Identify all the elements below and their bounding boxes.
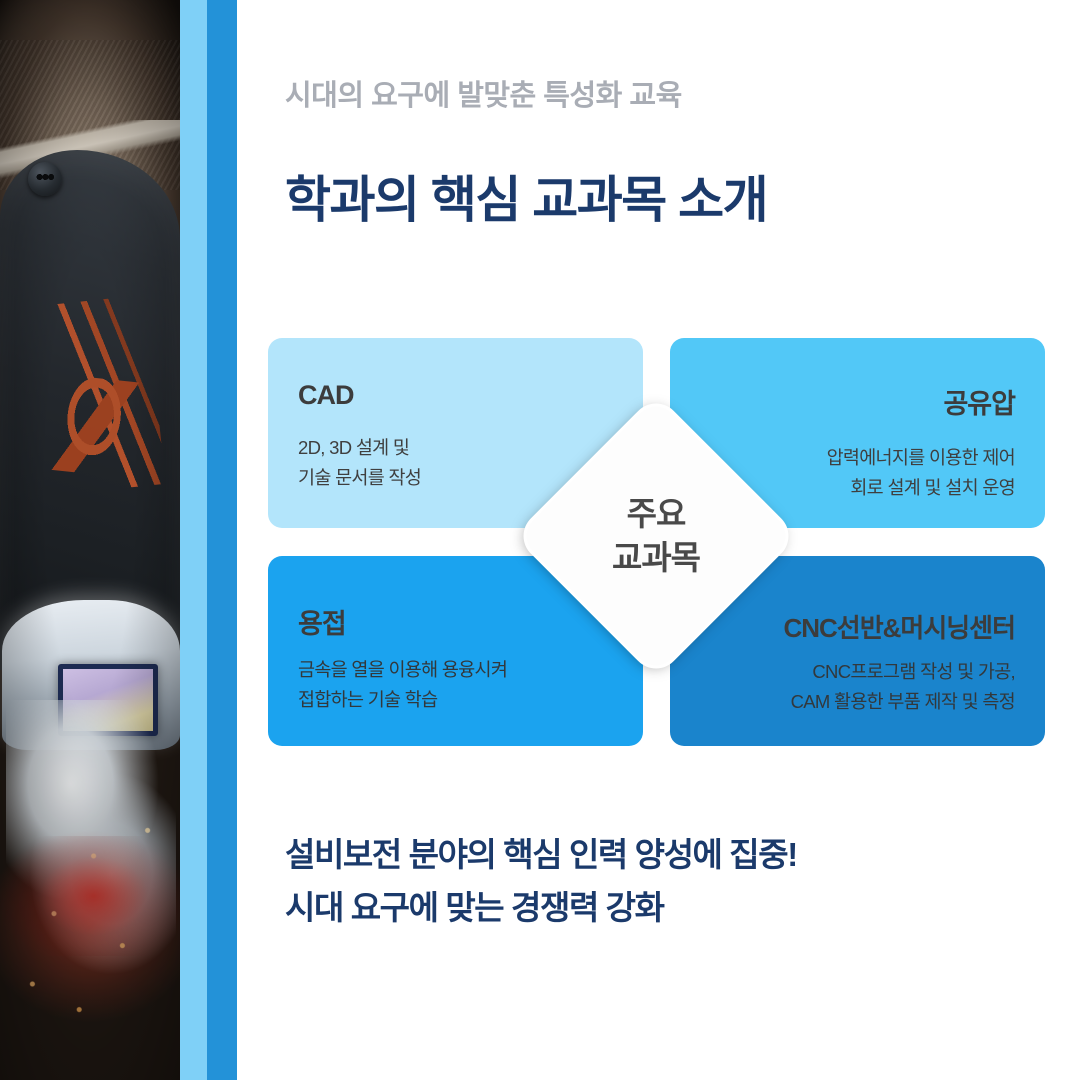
- subject-card-title: 공유압: [943, 382, 1015, 421]
- subject-card-title: CNC선반&머시닝센터: [783, 608, 1015, 645]
- subject-card-desc-line: CNC프로그램 작성 및 가공,: [791, 657, 1015, 687]
- eyebrow-text: 시대의 요구에 발맞춘 특성화 교육: [285, 72, 682, 114]
- footer-line-2: 시대 요구에 맞는 경쟁력 강화: [285, 881, 797, 934]
- subject-card-title: 용접: [298, 602, 346, 641]
- accent-stripe-dark: [207, 0, 237, 1080]
- subject-card-description: 압력에너지를 이용한 제어 회로 설계 및 설치 운영: [827, 443, 1015, 503]
- subject-card-description: 2D, 3D 설계 및 기술 문서를 작성: [298, 433, 421, 493]
- accent-stripe-light: [180, 0, 207, 1080]
- subject-card-desc-line: 기술 문서를 작성: [298, 463, 421, 493]
- subject-card-cad[interactable]: CAD 2D, 3D 설계 및 기술 문서를 작성: [268, 338, 643, 528]
- subject-card-desc-line: 금속을 열을 이용해 용융시켜: [298, 655, 507, 685]
- subject-card-desc-line: 회로 설계 및 설치 운영: [827, 473, 1015, 503]
- subject-card-welding[interactable]: 용접 금속을 열을 이용해 용융시켜 접합하는 기술 학습: [268, 556, 643, 746]
- subject-card-cnc-lathe-machining-center[interactable]: CNC선반&머시닝센터 CNC프로그램 작성 및 가공, CAM 활용한 부품 …: [670, 556, 1045, 746]
- subject-card-description: 금속을 열을 이용해 용융시켜 접합하는 기술 학습: [298, 655, 507, 715]
- photo-vignette: [0, 0, 180, 1080]
- welding-worker-photo: [0, 0, 180, 1080]
- subject-card-desc-line: 2D, 3D 설계 및: [298, 433, 421, 463]
- footer-message: 설비보전 분야의 핵심 인력 양성에 집중! 시대 요구에 맞는 경쟁력 강화: [285, 828, 797, 935]
- content-area: 시대의 요구에 발맞춘 특성화 교육 학과의 핵심 교과목 소개 CAD 2D,…: [268, 0, 1080, 1080]
- page-title: 학과의 핵심 교과목 소개: [285, 160, 767, 232]
- left-rail: [0, 0, 240, 1080]
- subject-card-desc-line: CAM 활용한 부품 제작 및 측정: [791, 687, 1015, 717]
- subject-card-title: CAD: [298, 380, 354, 411]
- footer-line-1: 설비보전 분야의 핵심 인력 양성에 집중!: [285, 828, 797, 881]
- subject-card-pneumatic-hydraulic[interactable]: 공유압 압력에너지를 이용한 제어 회로 설계 및 설치 운영: [670, 338, 1045, 528]
- subject-card-description: CNC프로그램 작성 및 가공, CAM 활용한 부품 제작 및 측정: [791, 657, 1015, 717]
- subject-card-desc-line: 접합하는 기술 학습: [298, 685, 507, 715]
- subject-card-desc-line: 압력에너지를 이용한 제어: [827, 443, 1015, 473]
- subject-quadrant-grid: CAD 2D, 3D 설계 및 기술 문서를 작성 공유압 압력에너지를 이용한…: [268, 338, 1045, 746]
